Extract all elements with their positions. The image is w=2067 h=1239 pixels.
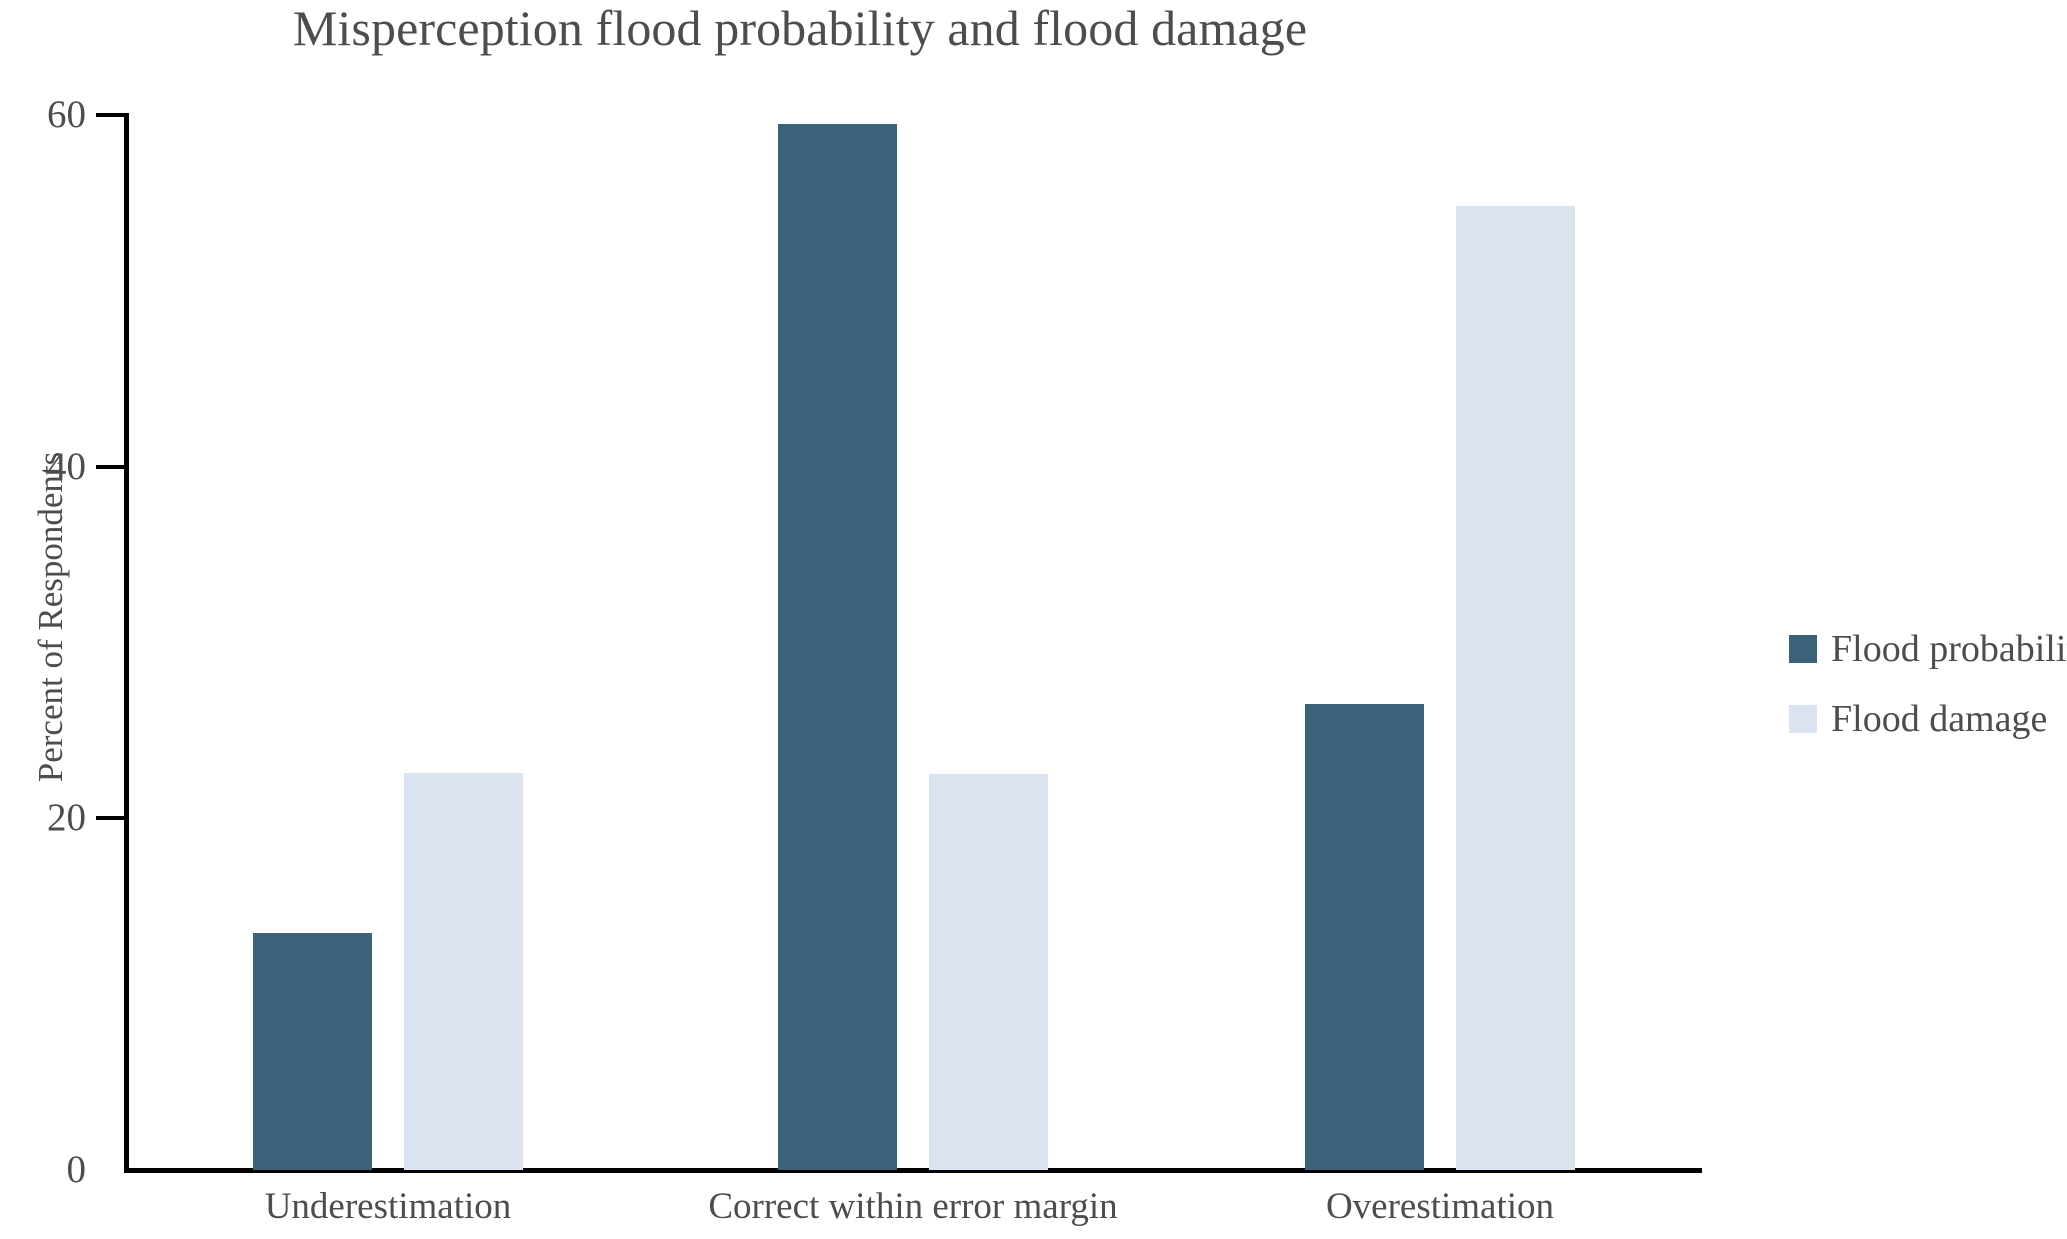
y-axis-tick [96, 465, 124, 469]
y-axis-tick [96, 113, 124, 117]
bar-flood-damage-correct-within-error-margin[interactable] [929, 774, 1048, 1170]
x-axis-tick-label: Overestimation [1090, 1186, 1790, 1228]
chart-title: Misperception flood probability and floo… [0, 0, 1600, 58]
legend-item[interactable]: Flood probability [1789, 614, 2067, 684]
chart-legend: Flood probabilityFlood damage [1789, 614, 2067, 754]
bar-flood-probability-overestimation[interactable] [1305, 704, 1424, 1170]
legend-swatch-icon [1789, 635, 1817, 663]
bar-flood-damage-underestimation[interactable] [404, 773, 523, 1170]
plot-area [124, 115, 1702, 1170]
y-axis-title: Percent of Respondents [33, 267, 68, 967]
legend-item-label: Flood damage [1831, 699, 2047, 739]
legend-swatch-icon [1789, 705, 1817, 733]
y-axis-tick [96, 816, 124, 820]
bar-flood-probability-underestimation[interactable] [253, 933, 372, 1170]
y-axis-tick-label: 60 [0, 95, 86, 134]
bar-flood-damage-overestimation[interactable] [1456, 206, 1575, 1170]
bar-chart: Misperception flood probability and floo… [0, 0, 2067, 1239]
legend-item-label: Flood probability [1831, 629, 2067, 669]
y-axis-tick-label: 0 [0, 1150, 86, 1189]
bar-flood-probability-correct-within-error-margin[interactable] [778, 124, 897, 1170]
legend-item[interactable]: Flood damage [1789, 684, 2067, 754]
